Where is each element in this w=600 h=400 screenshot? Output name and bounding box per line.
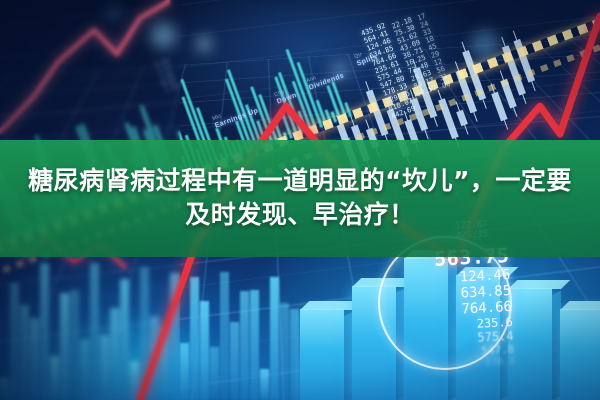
stock-market-banner-image: Mkt Earnings Up Chg Down Ann Dividends Q… [0,0,600,400]
page-title: 糖尿病肾病过程中有一道明显的“坎儿”，一定要 及时发现、早治疗！ [0,142,600,254]
headline-line-2: 及时发现、早治疗！ [185,198,415,233]
headline-line-1: 糖尿病肾病过程中有一道明显的“坎儿”，一定要 [28,164,572,199]
